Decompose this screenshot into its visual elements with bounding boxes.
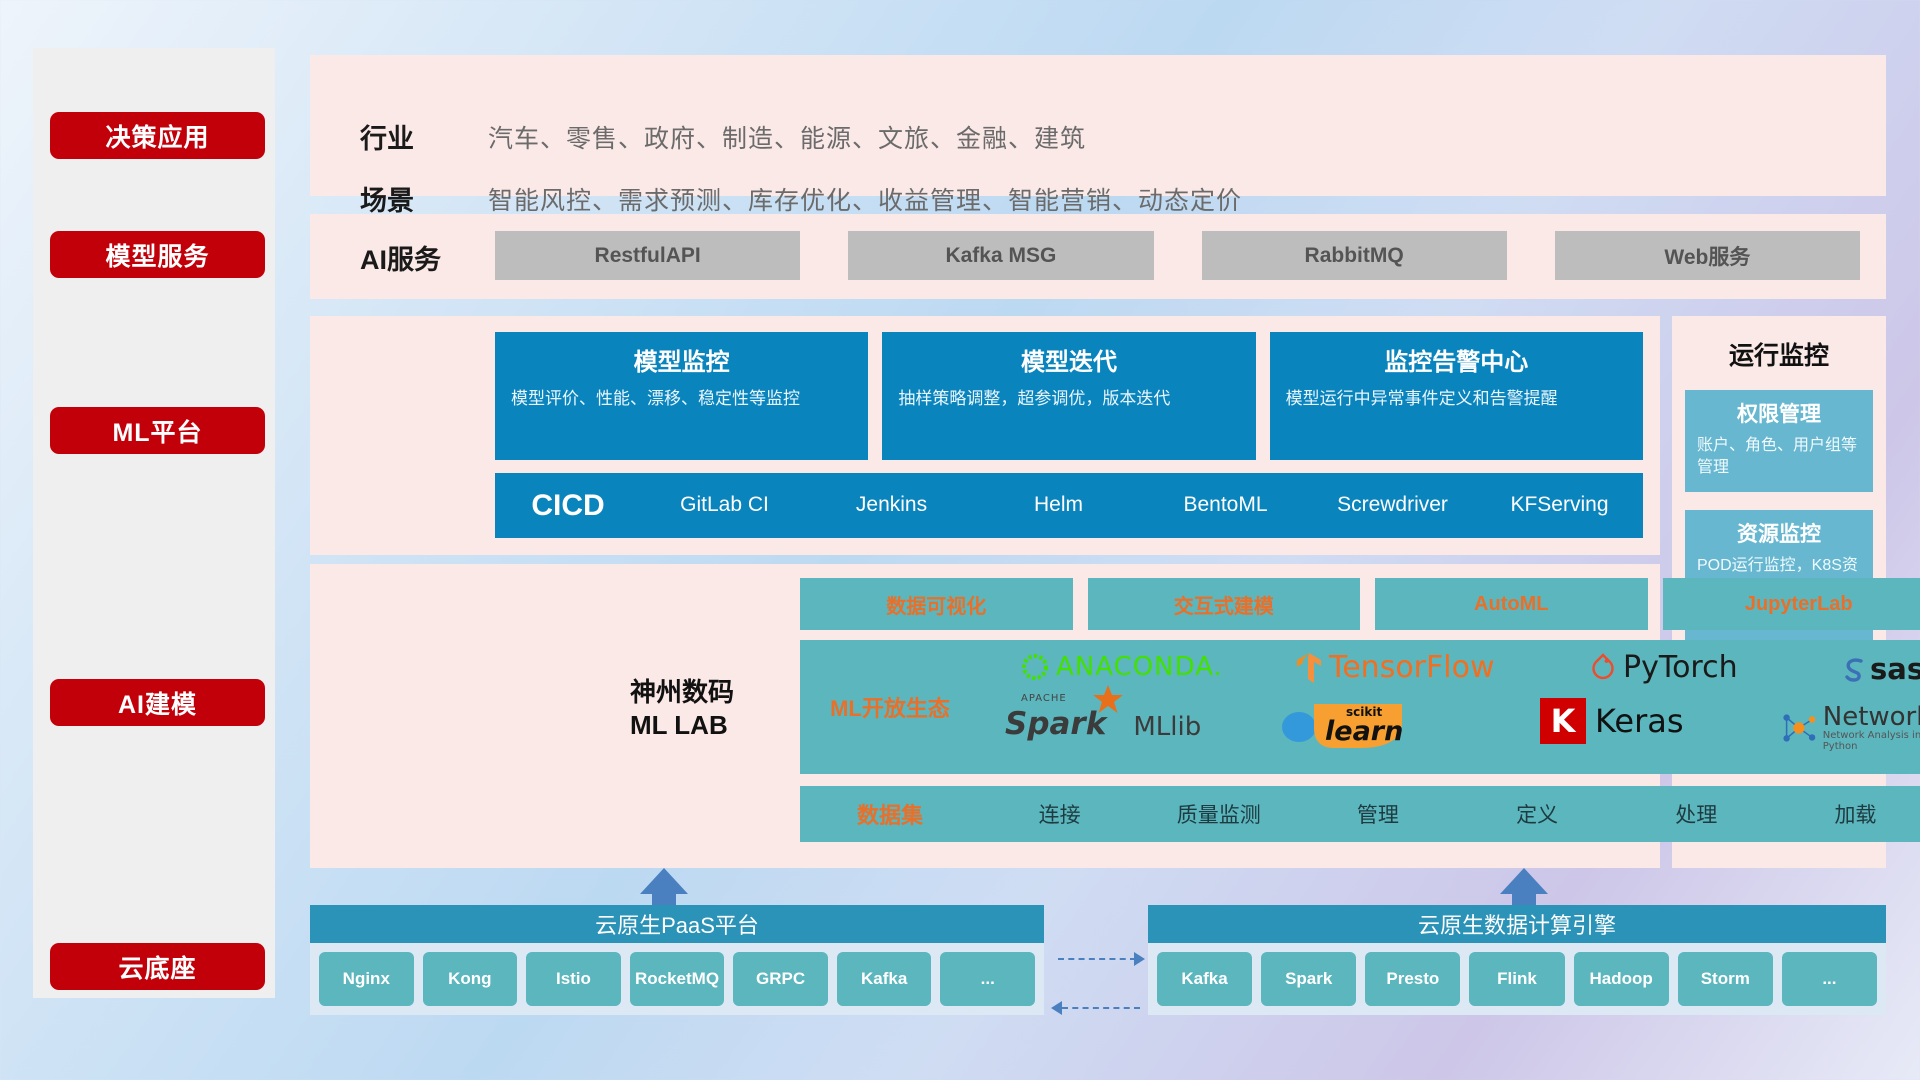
- architecture-diagram: 决策应用 模型服务 ML平台 AI建模 云底座 行业 汽车、零售、政府、制造、能…: [0, 0, 1920, 1080]
- networkx-graph-icon: [1780, 709, 1818, 747]
- data-chip-presto[interactable]: Presto: [1365, 952, 1460, 1006]
- run-monitor-title: 运行监控: [1672, 316, 1886, 372]
- cicd-item-screwdriver[interactable]: Screwdriver: [1309, 493, 1476, 517]
- layer-pill-model-service[interactable]: 模型服务: [50, 231, 265, 278]
- ai-service-item-web-service[interactable]: Web服务: [1555, 231, 1860, 280]
- ml-lab-tool-data-visualization[interactable]: 数据可视化: [800, 578, 1073, 630]
- layer-pill-label: 云底座: [118, 949, 196, 985]
- networkx-logo: NetworkX Network Analysis in Python: [1780, 704, 1920, 752]
- cloud-base-data-engine-title: 云原生数据计算引擎: [1148, 905, 1886, 943]
- ml-lab-key-line1: 神州数码: [630, 676, 790, 709]
- ml-lab-tool-list: 数据可视化 交互式建模 AutoML JupyterLab: [800, 578, 1920, 630]
- cloud-chip-rocketmq[interactable]: RocketMQ: [630, 952, 725, 1006]
- mlops-card-alert-center[interactable]: 监控告警中心 模型运行中异常事件定义和告警提醒: [1270, 332, 1643, 460]
- layer-pill-label: AI建模: [118, 685, 197, 721]
- learn-text: learn: [1325, 716, 1403, 747]
- keras-logo: K Keras: [1540, 698, 1684, 744]
- ai-service-item-rabbitmq[interactable]: RabbitMQ: [1202, 231, 1507, 280]
- dataset-label: 数据集: [800, 798, 980, 830]
- dataset-item-processing[interactable]: 处理: [1617, 799, 1776, 829]
- cicd-bar: CICD GitLab CI Jenkins Helm BentoML Scre…: [495, 473, 1643, 538]
- spark-apache-text: APACHE: [1021, 693, 1067, 704]
- ai-service-list: RestfulAPI Kafka MSG RabbitMQ Web服务: [495, 231, 1860, 280]
- cloud-base-data-engine-chips: Kafka Spark Presto Flink Hadoop Storm ..…: [1148, 943, 1886, 1015]
- industry-scenario-panel: 行业 汽车、零售、政府、制造、能源、文旅、金融、建筑 场景 智能风控、需求预测、…: [310, 55, 1886, 196]
- run-monitor-card-title: 权限管理: [1697, 398, 1861, 428]
- cloud-chip-istio[interactable]: Istio: [526, 952, 621, 1006]
- keras-logo-text: Keras: [1595, 702, 1684, 740]
- data-chip-hadoop[interactable]: Hadoop: [1574, 952, 1669, 1006]
- data-chip-kafka[interactable]: Kafka: [1157, 952, 1252, 1006]
- keras-mark-icon: K: [1540, 698, 1586, 744]
- dataset-item-connect[interactable]: 连接: [980, 799, 1139, 829]
- pytorch-logo-text: PyTorch: [1623, 650, 1738, 685]
- ml-lab-tool-jupyterlab[interactable]: JupyterLab: [1663, 578, 1920, 630]
- tensorflow-mark-icon: [1295, 651, 1325, 685]
- ml-open-ecosystem-label: ML开放生态: [800, 691, 980, 723]
- cloud-chip-nginx[interactable]: Nginx: [319, 952, 414, 1006]
- anaconda-logo: ANACONDA.: [1020, 652, 1223, 682]
- ai-service-item-kafka-msg[interactable]: Kafka MSG: [848, 231, 1153, 280]
- dashed-connector-right: [1058, 958, 1136, 960]
- layer-pill-label: ML平台: [112, 413, 202, 449]
- cicd-item-jenkins[interactable]: Jenkins: [808, 493, 975, 517]
- sas-logo-text: sas: [1870, 652, 1920, 686]
- ml-open-ecosystem-logos: ANACONDA. TensorFlow PyTorch: [980, 640, 1920, 774]
- run-monitor-card-title: 资源监控: [1697, 518, 1861, 548]
- layer-pill-ai-modeling[interactable]: AI建模: [50, 679, 265, 726]
- layer-pill-decision-app[interactable]: 决策应用: [50, 112, 265, 159]
- mlops-card-desc: 抽样策略调整，超参调优，版本迭代: [898, 387, 1239, 412]
- mlops-card-model-monitoring[interactable]: 模型监控 模型评价、性能、漂移、稳定性等监控: [495, 332, 868, 460]
- networkx-logo-subtext: Network Analysis in Python: [1823, 730, 1920, 752]
- mlops-card-model-iteration[interactable]: 模型迭代 抽样策略调整，超参调优，版本迭代: [882, 332, 1255, 460]
- cloud-chip-kafka[interactable]: Kafka: [837, 952, 932, 1006]
- scenario-value: 智能风控、需求预测、库存优化、收益管理、智能营销、动态定价: [488, 181, 1242, 217]
- ml-lab-key-line2: ML LAB: [630, 709, 790, 742]
- sas-mark-icon: [1840, 655, 1868, 683]
- mllib-logo-text: MLlib: [1113, 712, 1201, 742]
- industry-value: 汽车、零售、政府、制造、能源、文旅、金融、建筑: [488, 119, 1086, 155]
- industry-key: 行业: [330, 117, 488, 156]
- data-chip-storm[interactable]: Storm: [1678, 952, 1773, 1006]
- keras-mark-letter: K: [1551, 702, 1576, 740]
- layer-pill-cloud-base[interactable]: 云底座: [50, 943, 265, 990]
- scenario-line: 场景 智能风控、需求预测、库存优化、收益管理、智能营销、动态定价: [330, 179, 1242, 218]
- ml-lab-key: 神州数码 ML LAB: [630, 676, 790, 741]
- dashed-arrow-left-head: [1051, 1001, 1062, 1015]
- anaconda-logo-text: ANACONDA.: [1056, 652, 1223, 682]
- layer-pill-label: 模型服务: [105, 237, 209, 273]
- dataset-item-loading[interactable]: 加载: [1776, 799, 1920, 829]
- cicd-item-bentoml[interactable]: BentoML: [1142, 493, 1309, 517]
- data-chip-spark[interactable]: Spark: [1261, 952, 1356, 1006]
- ai-service-item-restfulapi[interactable]: RestfulAPI: [495, 231, 800, 280]
- scenario-key: 场景: [330, 179, 488, 218]
- data-chip-more[interactable]: ...: [1782, 952, 1877, 1006]
- sas-logo: sas: [1840, 652, 1920, 686]
- ml-lab-panel: 神州数码 ML LAB 数据可视化 交互式建模 AutoML JupyterLa…: [310, 564, 1660, 868]
- mlops-card-title: 模型监控: [511, 342, 852, 377]
- mlops-card-list: 模型监控 模型评价、性能、漂移、稳定性等监控 模型迭代 抽样策略调整，超参调优，…: [495, 332, 1643, 460]
- layer-pill-ml-platform[interactable]: ML平台: [50, 407, 265, 454]
- cloud-base-paas: 云原生PaaS平台 Nginx Kong Istio RocketMQ GRPC…: [310, 905, 1044, 1015]
- ml-open-ecosystem: ML开放生态 ANACONDA. TensorFlow: [800, 640, 1920, 774]
- cloud-base-data-engine: 云原生数据计算引擎 Kafka Spark Presto Flink Hadoo…: [1148, 905, 1886, 1015]
- mlops-card-desc: 模型运行中异常事件定义和告警提醒: [1286, 387, 1627, 412]
- mlops-panel: MLOps 模型监控 模型评价、性能、漂移、稳定性等监控 模型迭代 抽样策略调整…: [310, 316, 1660, 555]
- dataset-item-quality-monitoring[interactable]: 质量监测: [1139, 799, 1298, 829]
- mlops-card-title: 监控告警中心: [1286, 342, 1627, 377]
- spark-mllib-logo: APACHE Spark MLlib: [1005, 706, 1201, 742]
- ai-service-key: AI服务: [360, 238, 441, 277]
- tensorflow-logo-text: TensorFlow: [1329, 650, 1495, 685]
- industry-line: 行业 汽车、零售、政府、制造、能源、文旅、金融、建筑: [330, 117, 1086, 156]
- dashed-connector-left: [1062, 1007, 1140, 1009]
- dataset-item-definition[interactable]: 定义: [1458, 799, 1617, 829]
- ml-lab-tool-automl[interactable]: AutoML: [1375, 578, 1648, 630]
- ai-service-panel: AI服务 RestfulAPI Kafka MSG RabbitMQ Web服务: [310, 214, 1886, 299]
- cicd-item-helm[interactable]: Helm: [975, 493, 1142, 517]
- layer-rail: [33, 48, 275, 998]
- mlops-card-title: 模型迭代: [898, 342, 1239, 377]
- spark-star-icon: [1091, 684, 1125, 716]
- dataset-row: 数据集 连接 质量监测 管理 定义 处理 加载: [800, 786, 1920, 842]
- mlops-card-desc: 模型评价、性能、漂移、稳定性等监控: [511, 387, 852, 412]
- cloud-chip-grpc[interactable]: GRPC: [733, 952, 828, 1006]
- pytorch-mark-icon: [1590, 653, 1616, 683]
- cloud-chip-more[interactable]: ...: [940, 952, 1035, 1006]
- ml-lab-tool-interactive-modeling[interactable]: 交互式建模: [1088, 578, 1361, 630]
- cloud-base-paas-chips: Nginx Kong Istio RocketMQ GRPC Kafka ...: [310, 943, 1044, 1015]
- pytorch-logo: PyTorch: [1590, 650, 1738, 685]
- data-chip-flink[interactable]: Flink: [1469, 952, 1564, 1006]
- dashed-arrow-right-head: [1134, 952, 1145, 966]
- cicd-title: CICD: [495, 489, 641, 523]
- cicd-item-gitlab-ci[interactable]: GitLab CI: [641, 493, 808, 517]
- cloud-base-paas-title: 云原生PaaS平台: [310, 905, 1044, 943]
- cicd-item-kfserving[interactable]: KFServing: [1476, 493, 1643, 517]
- anaconda-mark-icon: [1020, 652, 1050, 682]
- tensorflow-logo: TensorFlow: [1295, 650, 1495, 685]
- cloud-chip-kong[interactable]: Kong: [423, 952, 518, 1006]
- dataset-item-management[interactable]: 管理: [1298, 799, 1457, 829]
- run-monitor-card-permission[interactable]: 权限管理 账户、角色、用户组等管理: [1685, 390, 1873, 492]
- run-monitor-card-desc: 账户、角色、用户组等管理: [1697, 435, 1861, 480]
- networkx-logo-text: NetworkX: [1823, 704, 1920, 730]
- layer-pill-label: 决策应用: [105, 118, 209, 154]
